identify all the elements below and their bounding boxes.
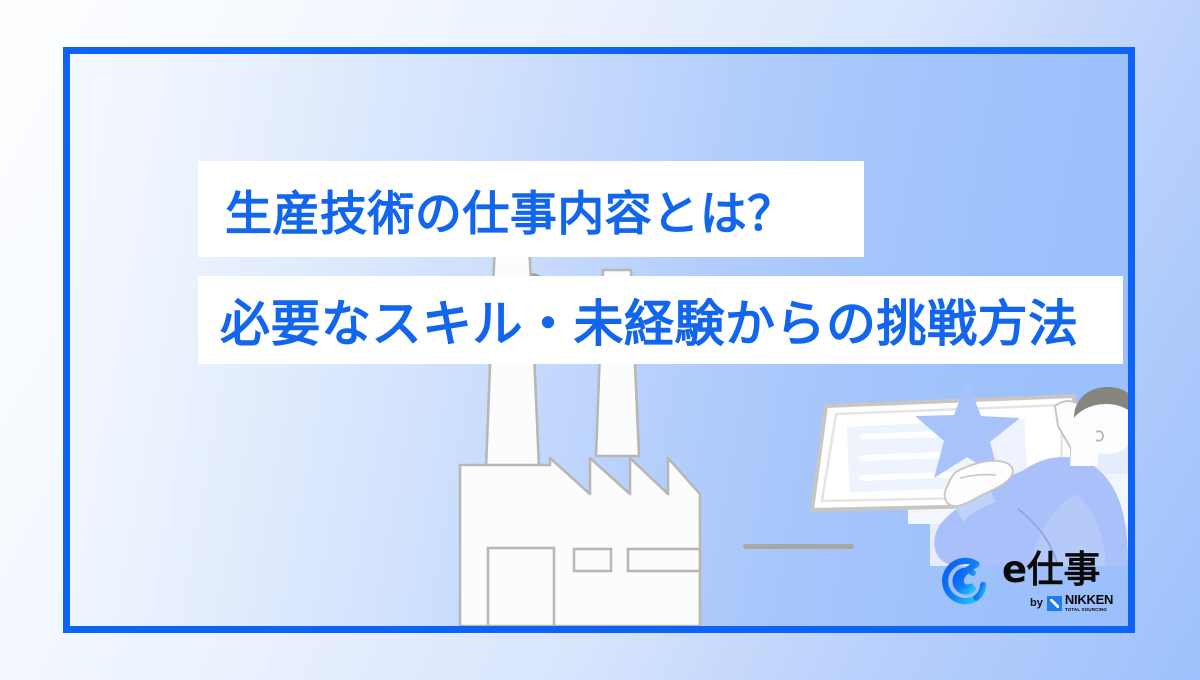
banner-canvas: 生産技術の仕事内容とは？ 必要なスキル・未経験からの挑戦方法 — [0, 0, 1200, 680]
banner-frame-border — [63, 47, 1135, 633]
